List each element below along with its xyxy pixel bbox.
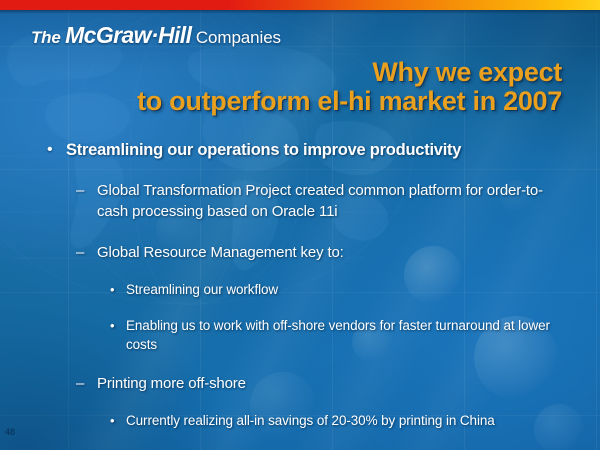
bullet-level3: • Streamlining our workflow (0, 280, 600, 299)
top-accent-bar-shadow (0, 10, 600, 14)
slide-title-line-1: Why we expect (137, 58, 562, 87)
bullet-marker-icon: • (47, 139, 66, 161)
bullet-text: Global Transformation Project created co… (97, 180, 570, 222)
bullet-text: Global Resource Management key to: (97, 242, 570, 263)
slide-title: Why we expect to outperform el-hi market… (137, 58, 562, 116)
slide-body: • Streamlining our operations to improve… (0, 139, 600, 440)
bullet-marker-icon: • (110, 280, 126, 299)
bullet-level1: • Streamlining our operations to improve… (0, 139, 600, 161)
bullet-marker-icon: – (76, 180, 97, 201)
spacer (0, 233, 600, 242)
bullet-level3: • Currently realizing all-in savings of … (0, 411, 600, 430)
mcgraw-hill-logo: The McGraw·Hill Companies (31, 22, 281, 49)
spacer (0, 364, 600, 373)
bullet-marker-icon: • (110, 316, 126, 335)
logo-word-companies: Companies (196, 28, 281, 47)
page-number: 48 (5, 427, 15, 437)
logo-word-mcgraw-hill: McGraw·Hill (65, 22, 191, 48)
bullet-level2: – Global Transformation Project created … (0, 180, 600, 222)
bullet-level2: – Printing more off-shore (0, 373, 600, 394)
top-accent-bar (0, 0, 600, 10)
bullet-text: Streamlining our workflow (126, 280, 560, 299)
bullet-marker-icon: • (110, 411, 126, 430)
bullet-text: Enabling us to work with off-shore vendo… (126, 316, 560, 354)
bullet-text: Currently realizing all-in savings of 20… (126, 411, 560, 430)
bullet-marker-icon: – (76, 242, 97, 263)
bullet-level2: – Global Resource Management key to: (0, 242, 600, 263)
slide-title-line-2: to outperform el-hi market in 2007 (137, 87, 562, 116)
bullet-text: Printing more off-shore (97, 373, 570, 394)
bullet-marker-icon: – (76, 373, 97, 394)
presentation-slide: The McGraw·Hill Companies Why we expect … (0, 0, 600, 450)
bullet-level3: • Enabling us to work with off-shore ven… (0, 316, 600, 354)
logo-word-the: The (31, 28, 61, 47)
bullet-text: Streamlining our operations to improve p… (66, 139, 600, 161)
spacer (0, 309, 600, 316)
